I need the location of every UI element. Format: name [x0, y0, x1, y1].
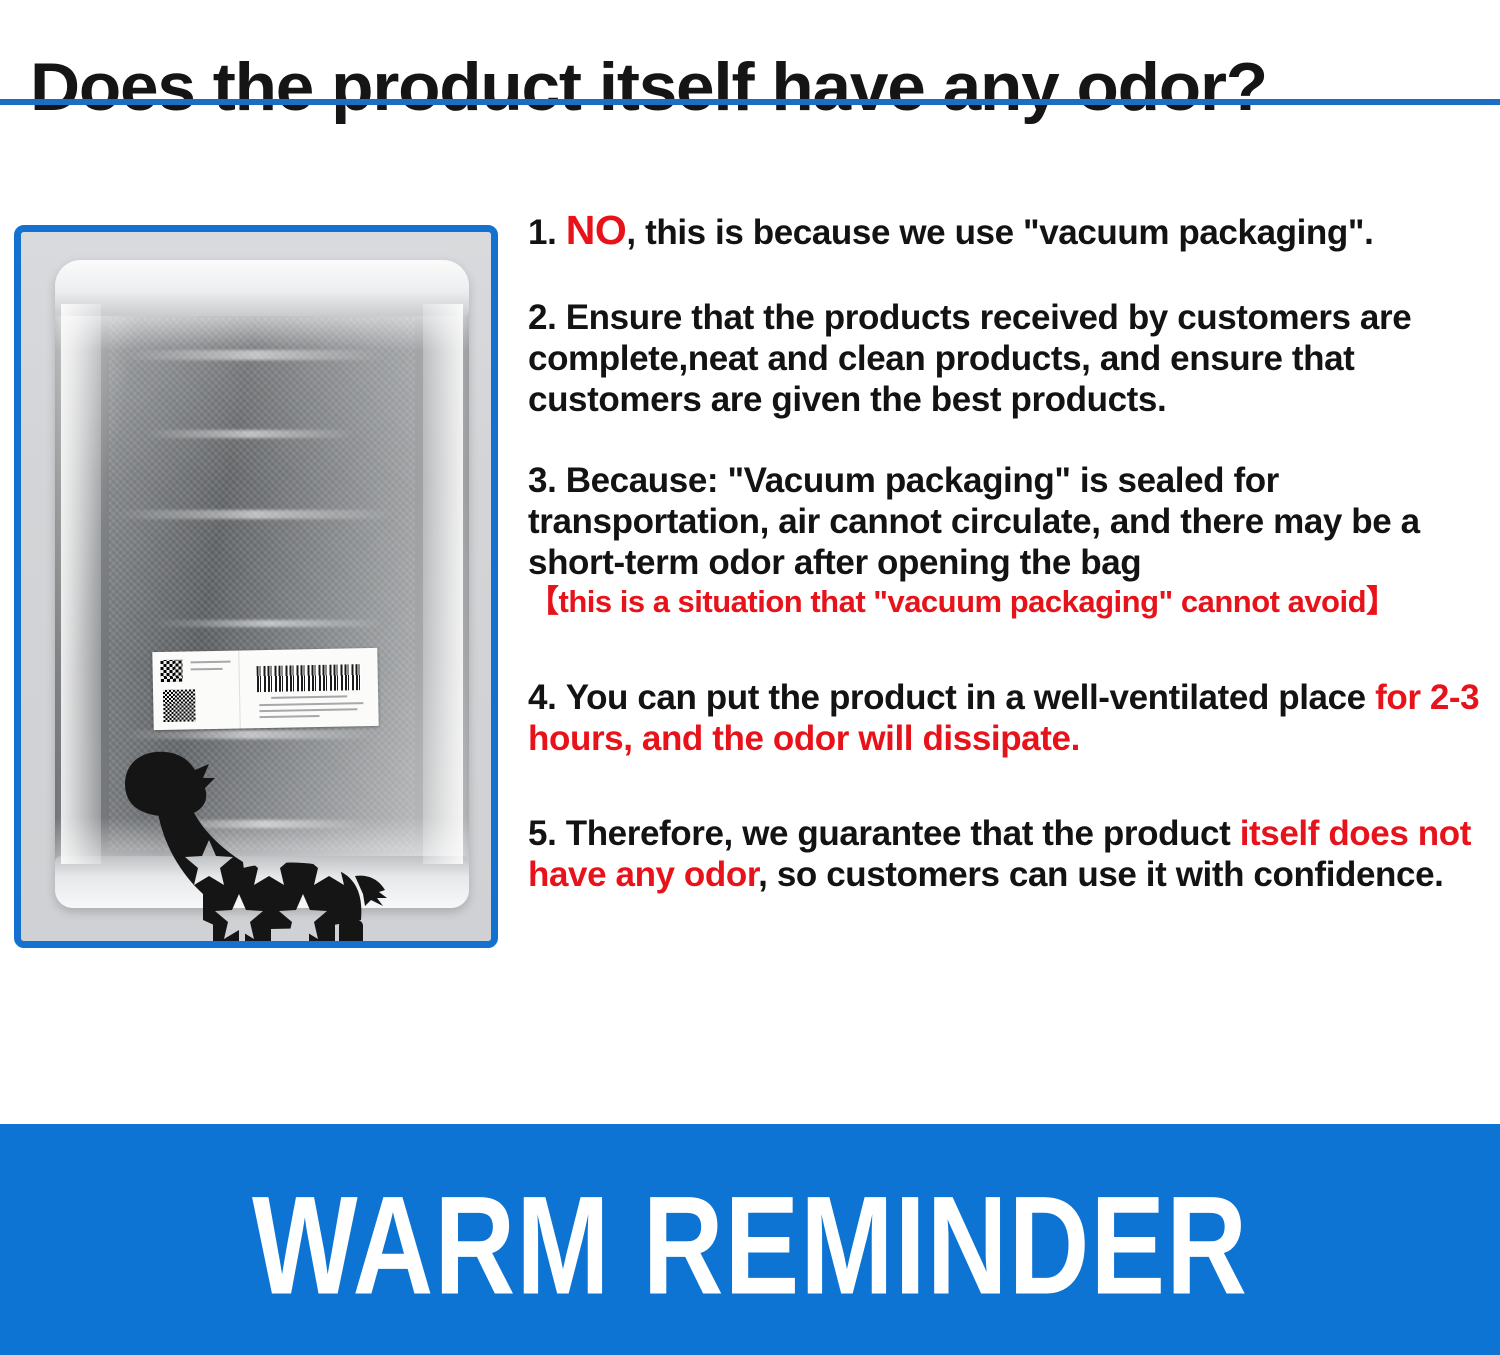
bag-seal-top — [55, 260, 469, 316]
item-2-text: Ensure that the products received by cus… — [528, 298, 1411, 419]
label-microtext-line — [259, 708, 357, 712]
item-4-number: 4. — [528, 678, 556, 717]
plastic-wrinkle — [125, 350, 385, 360]
plastic-wrinkle — [155, 620, 385, 627]
list-item-3: 3. Because: "Vacuum packaging" is sealed… — [528, 460, 1480, 621]
list-item-5: 5. Therefore, we guarantee that the prod… — [528, 813, 1480, 895]
label-microtext-line — [260, 715, 320, 718]
label-microtext-line — [190, 661, 230, 664]
item-5-tail: , so customers can use it with confidenc… — [758, 855, 1443, 894]
title-divider-rule — [0, 99, 1500, 105]
bag-side-fold-right — [423, 304, 463, 864]
plastic-wrinkle — [145, 430, 355, 438]
item-1-text: this is because we use "vacuum packaging… — [645, 213, 1373, 252]
label-microtext-line — [191, 668, 223, 671]
label-microtext-line — [259, 702, 363, 706]
brand-name: Zebricolo — [131, 947, 356, 948]
warm-reminder-label: WARM REMINDER — [0, 1176, 1500, 1316]
barcode-icon — [257, 664, 361, 692]
product-photo: Zebricolo® — [21, 232, 491, 941]
item-1-emphasis: NO — [566, 207, 627, 253]
item-3-bracket-note: 【this is a situation that "vacuum packag… — [528, 583, 1480, 621]
label-microtext-line — [271, 695, 347, 698]
item-5-number: 5. — [528, 814, 556, 853]
item-5-lead: Therefore, we guarantee that the product — [566, 814, 1240, 853]
page-title: Does the product itself have any odor? — [30, 48, 1500, 126]
product-photo-frame: Zebricolo® — [14, 225, 498, 948]
plastic-wrinkle — [115, 510, 395, 519]
shipping-label — [152, 648, 378, 730]
brand-wordmark: Zebricolo® — [131, 947, 373, 948]
label-left-column — [152, 650, 240, 730]
item-1-number: 1. — [528, 213, 556, 252]
datamatrix-code-icon — [160, 660, 182, 682]
qr-code-icon — [163, 689, 196, 722]
item-3-number: 3. — [528, 461, 556, 500]
item-3-text: Because: "Vacuum packaging" is sealed fo… — [528, 461, 1420, 582]
item-4-text-black: You can put the product in a well-ventil… — [566, 678, 1375, 717]
explanation-list: 1. NO, this is because we use "vacuum pa… — [528, 210, 1480, 895]
zebra-logo-icon — [117, 744, 407, 948]
list-item-4: 4. You can put the product in a well-ven… — [528, 677, 1480, 759]
item-1-comma: , — [626, 213, 635, 252]
plastic-wrinkle — [125, 730, 375, 739]
item-2-number: 2. — [528, 298, 556, 337]
list-item-2: 2. Ensure that the products received by … — [528, 297, 1480, 420]
bag-side-fold-left — [61, 304, 101, 864]
list-item-1: 1. NO, this is because we use "vacuum pa… — [528, 210, 1480, 253]
